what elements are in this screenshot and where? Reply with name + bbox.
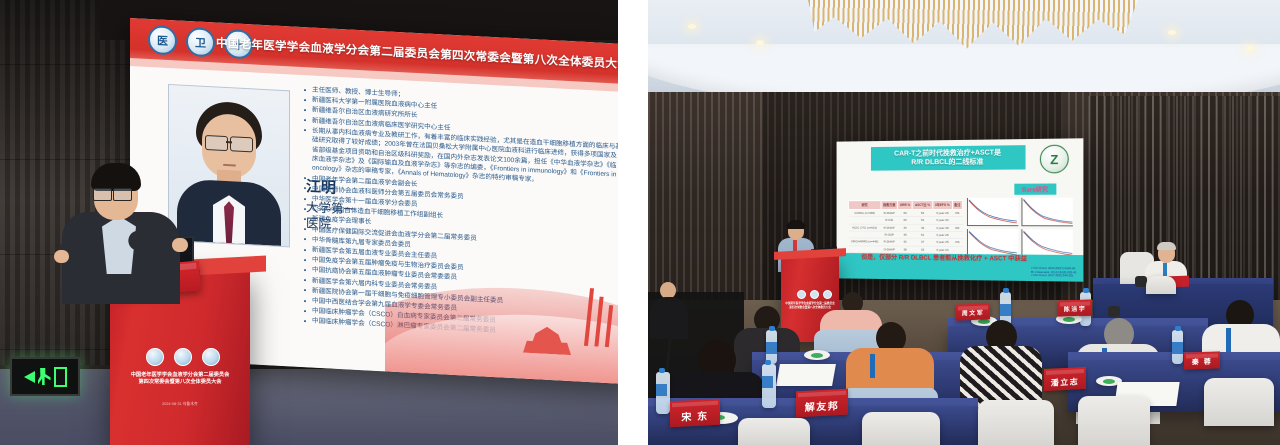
table-cell [848, 217, 880, 224]
speaker-portrait-photo [168, 84, 290, 247]
downlight-3-icon [1168, 30, 1176, 35]
name-card-text: 解友邦 [805, 402, 840, 417]
chair-front-c [978, 400, 1054, 445]
bottle-cap-icon [1083, 288, 1089, 293]
study-badge: Bars研究 [1014, 183, 1056, 194]
portrait-glasses-right-icon [230, 136, 253, 152]
speaker-person-left [62, 168, 180, 300]
table-cell: 64 [898, 217, 913, 224]
km-chart-d [1021, 229, 1073, 257]
notepad-r2 [776, 364, 836, 386]
table-cell: R-GDP [881, 231, 898, 238]
slide-header-title: 中国老年医学学会血液学分会第二届委员会第四次常委会暨第八次全体委员大会 [216, 35, 618, 73]
podium-right-logo-1-icon [797, 290, 806, 299]
table-cell [952, 231, 962, 238]
chair-front-a [738, 418, 810, 445]
table-cell: R-ICE [881, 217, 898, 224]
table-cell: 51 [913, 217, 933, 224]
exit-door-icon [54, 367, 67, 387]
head-person-lanyard [1163, 263, 1167, 276]
table-cell: 45 [898, 231, 913, 238]
bottle-cap-icon [769, 326, 775, 331]
table-cell: 4 year 25 [933, 239, 953, 246]
table-cell: 43 [913, 224, 933, 231]
bottle-cap-icon [1003, 288, 1009, 293]
table-cell: 4 year 39 [933, 224, 953, 231]
table-cell: R-DHAP [881, 209, 898, 216]
podium-right-logo-2-icon [810, 290, 819, 299]
photo-collage: 医 卫 十 中国老年医学学会血液学分会第二届委员会第四次常委会暨第八次全体委员大… [0, 0, 1280, 445]
coffee-cup-r1 [1108, 306, 1120, 317]
km-chart-a [967, 198, 1018, 226]
table-cell: 4 year 26 [933, 231, 953, 238]
panel-divider [628, 0, 638, 445]
table-cell: OS [952, 239, 962, 246]
name-card-qinrong: 秦 蓉 [1184, 351, 1220, 369]
bottle-cap-icon [765, 360, 771, 365]
right-photo-conference-hall: CAR-T之前时代挽救治疗+ASCT是 R/R DLBCL的二线标准 Z Bar… [648, 0, 1280, 445]
running-person-icon [38, 368, 51, 385]
bottle-cap-icon [659, 368, 665, 373]
km-curve-c-icon [968, 229, 1018, 256]
table-cell: 51 [913, 231, 933, 238]
speaker-glasses-left-icon [93, 188, 112, 201]
card-header-band [1060, 301, 1090, 306]
water-bottle-r4-a [656, 372, 670, 414]
slide-references: J Clin Oncol. 2010;28(27):4184-90. Br J … [1031, 267, 1077, 279]
trial-results-table: 研究挽救方案ORR %ASCT比 %3年EFS %备注 CORAL (n=396… [848, 200, 963, 254]
downlight-4-icon [1246, 46, 1254, 51]
table-body: CORAL (n=396)R-DHAP63543 year 26NSR-ICE6… [848, 209, 962, 253]
name-card-xieyoubang: 解友邦 [796, 389, 848, 418]
speaker-left-hand [54, 250, 69, 263]
name-card-text: 周文军 [962, 311, 985, 321]
society-logo-1-icon: 医 [148, 25, 177, 56]
chair-front-d [1078, 396, 1150, 445]
table-header-cell: 挽救方案 [881, 201, 898, 210]
table-cell: 42 [898, 238, 913, 245]
name-card-panlizhi: 潘立志 [1044, 367, 1086, 391]
bottle-cap-icon [1175, 326, 1181, 331]
table-cell: 37 [913, 239, 933, 246]
attendee-white-right-lanyard [1226, 328, 1231, 352]
table-cell: NS [952, 209, 962, 216]
table-header-cell: 研究 [848, 201, 880, 210]
table-header-cell: 3年EFS % [933, 201, 953, 210]
survival-curve-chart-group [967, 198, 1073, 257]
name-card-text: 秦 蓉 [1192, 359, 1212, 370]
name-card-r1-b: 陈洁宇 [1058, 299, 1092, 316]
water-bottle-r2-a [766, 330, 777, 364]
slide-title-right: CAR-T之前时代挽救治疗+ASCT是 R/R DLBCL的二线标准 [871, 145, 1026, 171]
card-header-band [1046, 369, 1084, 375]
table-cell: R-DHAP [881, 238, 898, 245]
table-cell: 3 year 34 [933, 217, 953, 224]
name-card-text: 潘立志 [1051, 378, 1080, 390]
name-card-r1-a: 周文军 [956, 303, 990, 320]
table-cell: R-DHAP [881, 224, 898, 231]
portrait-mouth [223, 164, 236, 167]
podium-logo-2-icon [174, 348, 192, 366]
card-header-band [672, 400, 718, 406]
km-curve-b-icon [1022, 198, 1073, 225]
candy-plate-r2 [804, 350, 830, 360]
table-cell: 3 year 26 [933, 209, 953, 216]
table-cell: 54 [913, 209, 933, 216]
card-header-band [958, 305, 988, 310]
presenter-hair [787, 220, 805, 229]
table-cell [952, 217, 962, 224]
speaker-glasses-right-icon [113, 188, 132, 201]
table-header-row: 研究挽救方案ORR %ASCT比 %3年EFS %备注 [848, 200, 962, 209]
attendee-orange-lanyard [870, 354, 875, 378]
card-header-band [1186, 353, 1218, 358]
table-cell: 63 [898, 209, 913, 216]
head-person-hair [1157, 242, 1176, 250]
table-header-cell: 备注 [952, 200, 962, 209]
table-cell: CORAL (n=396) [848, 209, 880, 216]
downlight-1-icon [688, 24, 696, 29]
podium-logo-group [146, 348, 220, 366]
crew-body [650, 297, 688, 339]
table-cell: 44 [898, 224, 913, 231]
slide-footer-conclusion: 但是，仅部分 R/R DLBCL 患者能从挽救化疗 + ASCT 中获益 [861, 252, 1027, 263]
water-bottle-r4-b [762, 364, 776, 408]
portrait-glasses-bridge [226, 141, 232, 143]
downlight-2-icon [756, 40, 764, 45]
km-chart-b [1021, 198, 1073, 226]
name-card-text: 陈洁宇 [1064, 307, 1087, 317]
water-bottle-r3-a [1172, 330, 1183, 364]
slide-data-table: 研究挽救方案ORR %ASCT比 %3年EFS %备注 CORAL (n=396… [848, 200, 963, 254]
emergency-exit-sign [10, 357, 80, 396]
podium-logo-1-icon [146, 348, 164, 366]
podium-logo-3-icon [202, 348, 220, 366]
chair-front-e [1204, 378, 1274, 426]
table-cell: CR [952, 224, 962, 231]
km-curve-a-icon [968, 198, 1018, 225]
podium-date: 2024·08·31 乌鲁木齐 [120, 402, 240, 407]
name-card-text: 宋 东 [681, 412, 708, 426]
km-curve-d-icon [1022, 229, 1073, 256]
chair-back-small [1146, 276, 1176, 294]
speaker-right-hand [172, 238, 188, 252]
chair-front-b [862, 412, 940, 445]
left-photo-speaker-at-podium: 医 卫 十 中国老年医学学会血液学分会第二届委员会第四次常委会暨第八次全体委员大… [0, 0, 618, 445]
name-card-songdong: 宋 东 [670, 399, 720, 428]
table-header-cell: ORR % [898, 201, 913, 210]
table-header-cell: ASCT比 % [913, 201, 933, 210]
card-header-band [798, 390, 846, 397]
slide-title-line-2: R/R DLBCL的二线标准 [873, 157, 1024, 167]
podium-title: 中国老年医学学会血液学分会第二届委员会 第四次常委会暨第八次全体委员大会 [120, 372, 240, 387]
speaker-hair [91, 163, 141, 191]
left-arrow-icon [24, 371, 35, 383]
podium-title-line-2: 第四次常委会暨第八次全体委员大会 [120, 379, 240, 386]
society-logo-2-icon: 卫 [186, 27, 215, 58]
crew-member [650, 282, 690, 338]
projection-screen-right: CAR-T之前时代挽救治疗+ASCT是 R/R DLBCL的二线标准 Z Bar… [837, 138, 1084, 281]
hospital-logo-icon: Z [1040, 145, 1069, 174]
portrait-glasses-left-icon [205, 135, 228, 151]
slide-decoration-artwork [385, 251, 618, 384]
reference-line-3: J Clin Oncol. 2017;35(5):544-551. [1031, 274, 1077, 278]
